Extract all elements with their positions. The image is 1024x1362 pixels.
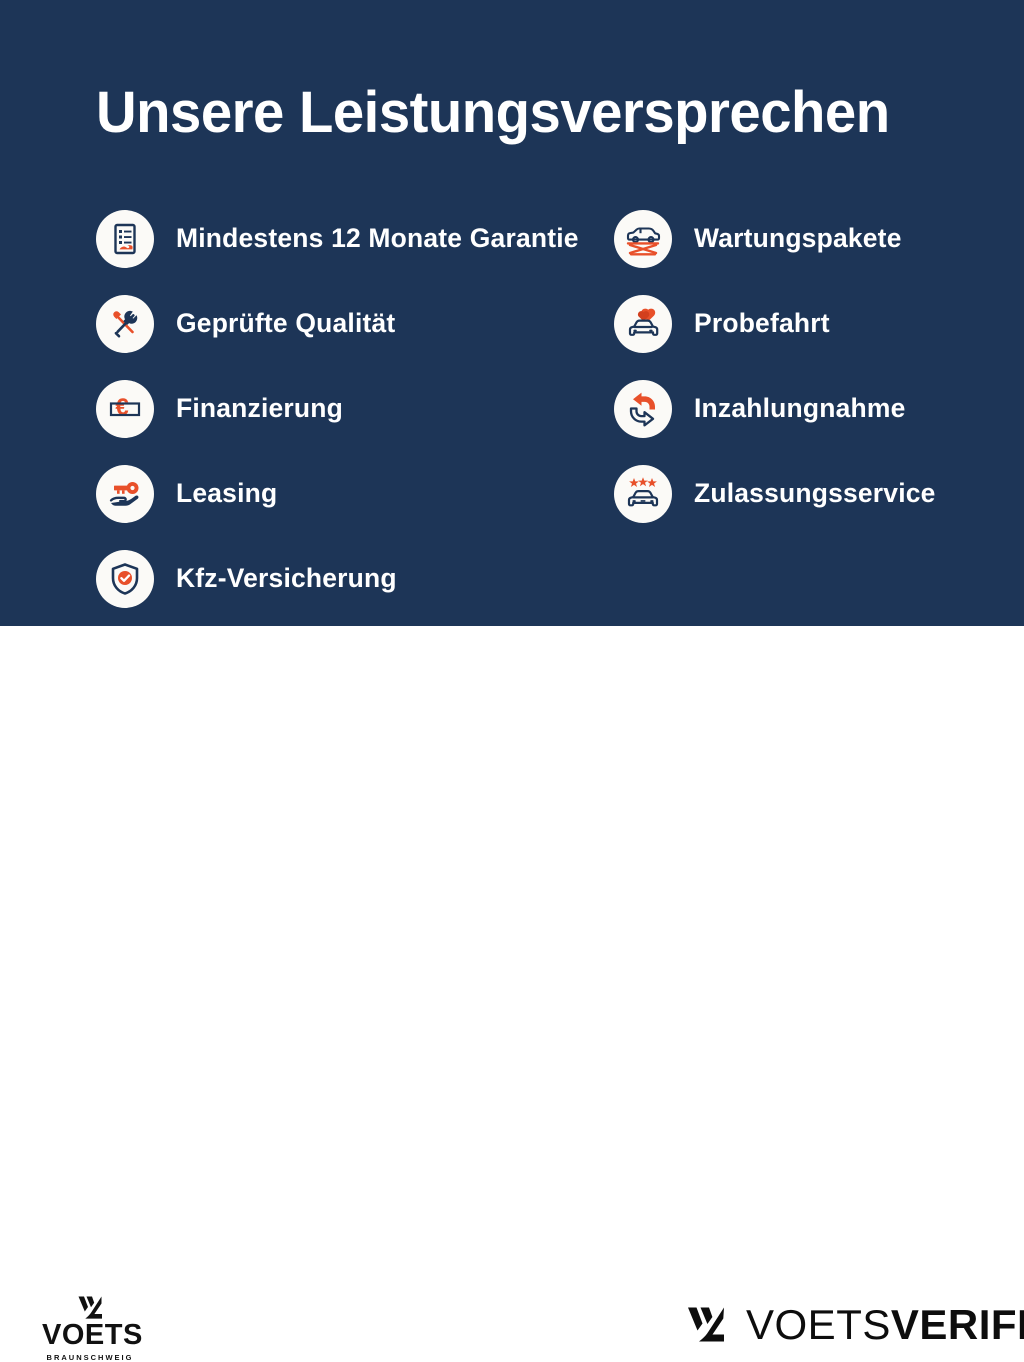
verified-logo[interactable]: VOETSVERIFIED <box>684 1302 1024 1347</box>
hero-panel: Unsere Leistungsversprechen <box>0 0 1024 626</box>
wrench-screwdriver-icon <box>96 295 154 353</box>
feature-label: Wartungspakete <box>694 223 902 254</box>
feature-item-leasing[interactable]: Leasing <box>96 451 616 536</box>
car-heart-icon <box>614 295 672 353</box>
promo-poster: Unsere Leistungsversprechen <box>0 0 1024 768</box>
euro-banknote-icon: € <box>96 380 154 438</box>
car-stars-icon <box>614 465 672 523</box>
certificate-document-icon <box>96 210 154 268</box>
car-lift-icon <box>614 210 672 268</box>
exchange-arrows-icon <box>614 380 672 438</box>
feature-item-qualitaet[interactable]: Geprüfte Qualität <box>96 281 616 366</box>
page-title: Unsere Leistungsversprechen <box>96 84 890 142</box>
voets-v-mark-icon <box>42 1294 138 1320</box>
features-right-column: Wartungspakete <box>614 196 1014 536</box>
feature-label: Leasing <box>176 478 277 509</box>
dealer-logo[interactable]: VOETS BRAUNSCHWEIG <box>42 1294 138 1362</box>
svg-text:€: € <box>115 394 128 421</box>
feature-label: Finanzierung <box>176 393 343 424</box>
feature-label: Kfz-Versicherung <box>176 563 397 594</box>
feature-item-finanzierung[interactable]: € Finanzierung <box>96 366 616 451</box>
feature-label: Inzahlungnahme <box>694 393 905 424</box>
feature-label: Zulassungsservice <box>694 478 936 509</box>
feature-label: Probefahrt <box>694 308 830 339</box>
hand-key-icon <box>96 465 154 523</box>
feature-item-versicherung[interactable]: Kfz-Versicherung <box>96 536 616 621</box>
dealer-wordmark: VOETS <box>42 1321 138 1350</box>
feature-item-zulassungsservice[interactable]: Zulassungsservice <box>614 451 1014 536</box>
shield-check-icon <box>96 550 154 608</box>
feature-label: Geprüfte Qualität <box>176 308 395 339</box>
verified-name-bold: VERIFIED <box>891 1301 1024 1348</box>
dealer-location: BRAUNSCHWEIG <box>42 1353 138 1362</box>
feature-item-wartungspakete[interactable]: Wartungspakete <box>614 196 1014 281</box>
voets-v-mark-icon <box>684 1302 730 1347</box>
footer-bar: VOETS BRAUNSCHWEIG VOETSVERIFIED <box>0 626 1024 768</box>
verified-name-light: VOETS <box>746 1301 891 1348</box>
feature-item-probefahrt[interactable]: Probefahrt <box>614 281 1014 366</box>
feature-item-inzahlungnahme[interactable]: Inzahlungnahme <box>614 366 1014 451</box>
features-left-column: Mindestens 12 Monate Garantie <box>96 196 616 621</box>
feature-label: Mindestens 12 Monate Garantie <box>176 223 579 254</box>
feature-item-garantie[interactable]: Mindestens 12 Monate Garantie <box>96 196 616 281</box>
verified-wordmark: VOETSVERIFIED <box>746 1304 1024 1346</box>
